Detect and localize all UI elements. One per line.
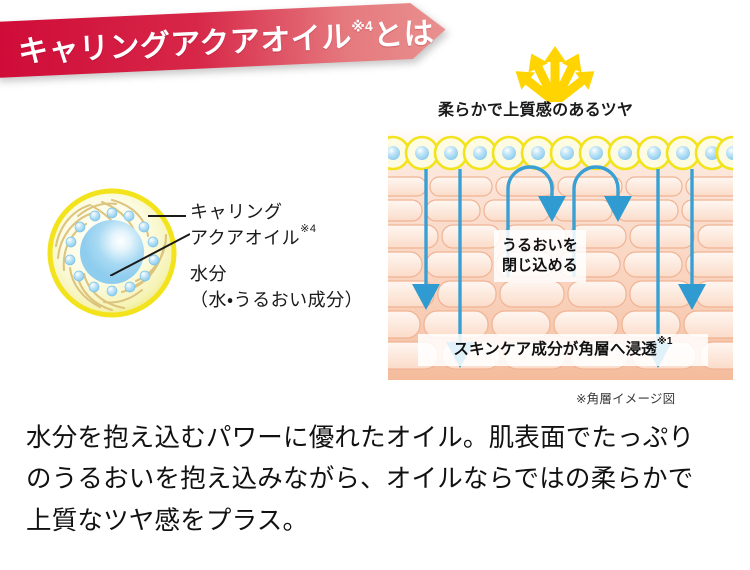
label-water-line2: （水・うるおい成分） [190,288,363,314]
chip-absorb-footnote: ※1 [657,336,673,347]
body-copy-line3: 上質なツヤ感をプラス。 [26,501,732,542]
body-copy: 水分を抱え込むパワーに優れたオイル。肌表面でたっぷり のうるおいを抱え込みながら… [26,418,732,542]
shine-rays [440,44,670,102]
banner-title: キャリングアクアオイル※4とは [17,2,436,77]
label-oil-line2: アクアオイル [190,228,300,248]
label-water: 水分 （水・うるおい成分） [190,262,363,313]
section-banner: キャリングアクアオイル※4とは [0,1,455,78]
chip-absorb-wrap: スキンケア成分が角層へ浸透※1 [453,339,672,361]
label-water-line1: 水分 [190,262,363,288]
surface-oil-cells [388,137,733,169]
leader-line-water [110,232,190,276]
label-oil-line1: キャリング [190,200,316,226]
chip-absorb-text: スキンケア成分が角層へ浸透 [453,341,657,358]
chip-lock-moisture: うるおいを 閉じ込める [494,230,586,282]
chip-skincare-penetration: スキンケア成分が角層へ浸透※1 [418,334,708,366]
leader-line-oil [148,215,186,217]
skin-diagram-note: ※角層イメージ図 [576,388,675,407]
skin-caption-top: 柔らかで上質感のあるツヤ [438,96,633,120]
chip-lock-line1: うるおいを [502,236,578,256]
label-carrying-aqua-oil: キャリング アクアオイル※4 [190,200,316,251]
body-copy-line1: 水分を抱え込むパワーに優れたオイル。肌表面でたっぷり [26,418,732,459]
infographic-root: キャリングアクアオイル※4とは [0,0,750,570]
banner-title-suffix: とは [372,8,435,55]
chip-lock-line2: 閉じ込める [502,256,578,276]
banner-title-text: キャリングアクアオイル [17,12,353,71]
label-oil-line2-wrap: アクアオイル※4 [190,226,316,252]
body-copy-line2: のうるおいを抱え込みながら、オイルならではの柔らかで [26,459,732,500]
label-oil-footnote: ※4 [300,223,316,235]
banner-title-footnote: ※4 [351,17,373,35]
